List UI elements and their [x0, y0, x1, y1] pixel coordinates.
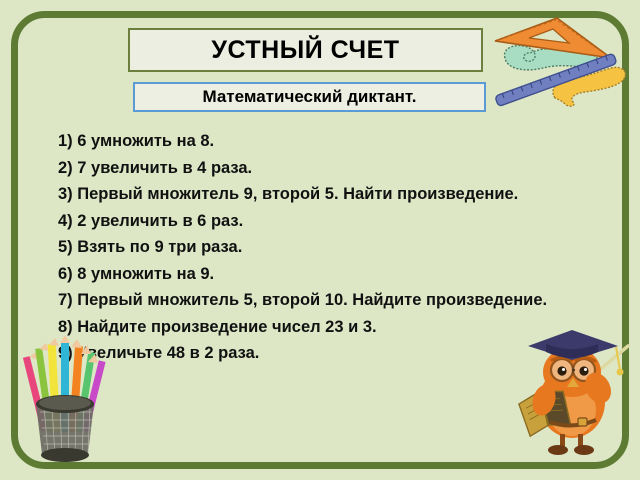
title-box: УСТНЫЙ СЧЕТ	[128, 28, 483, 72]
list-item: 4) 2 увеличить в 6 раз.	[58, 208, 598, 235]
list-item: 6) 8 умножить на 9.	[58, 261, 598, 288]
list-item: 7) Первый множитель 5, второй 10. Найдит…	[58, 287, 598, 314]
pencil-cup-icon	[18, 330, 114, 470]
page-subtitle: Математический диктант.	[202, 87, 416, 107]
list-item: 3) Первый множитель 9, второй 5. Найти п…	[58, 181, 598, 208]
subtitle-box: Математический диктант.	[133, 82, 486, 112]
owl-teacher-icon	[516, 326, 636, 466]
slide-canvas: УСТНЫЙ СЧЕТ Математический диктант. 1) 6…	[0, 0, 640, 480]
list-item: 5) Взять по 9 три раза.	[58, 234, 598, 261]
list-item: 1) 6 умножить на 8.	[58, 128, 598, 155]
list-item: 2) 7 увеличить в 4 раза.	[58, 155, 598, 182]
drafting-rulers-icon	[487, 16, 633, 112]
page-title: УСТНЫЙ СЧЕТ	[211, 36, 399, 65]
